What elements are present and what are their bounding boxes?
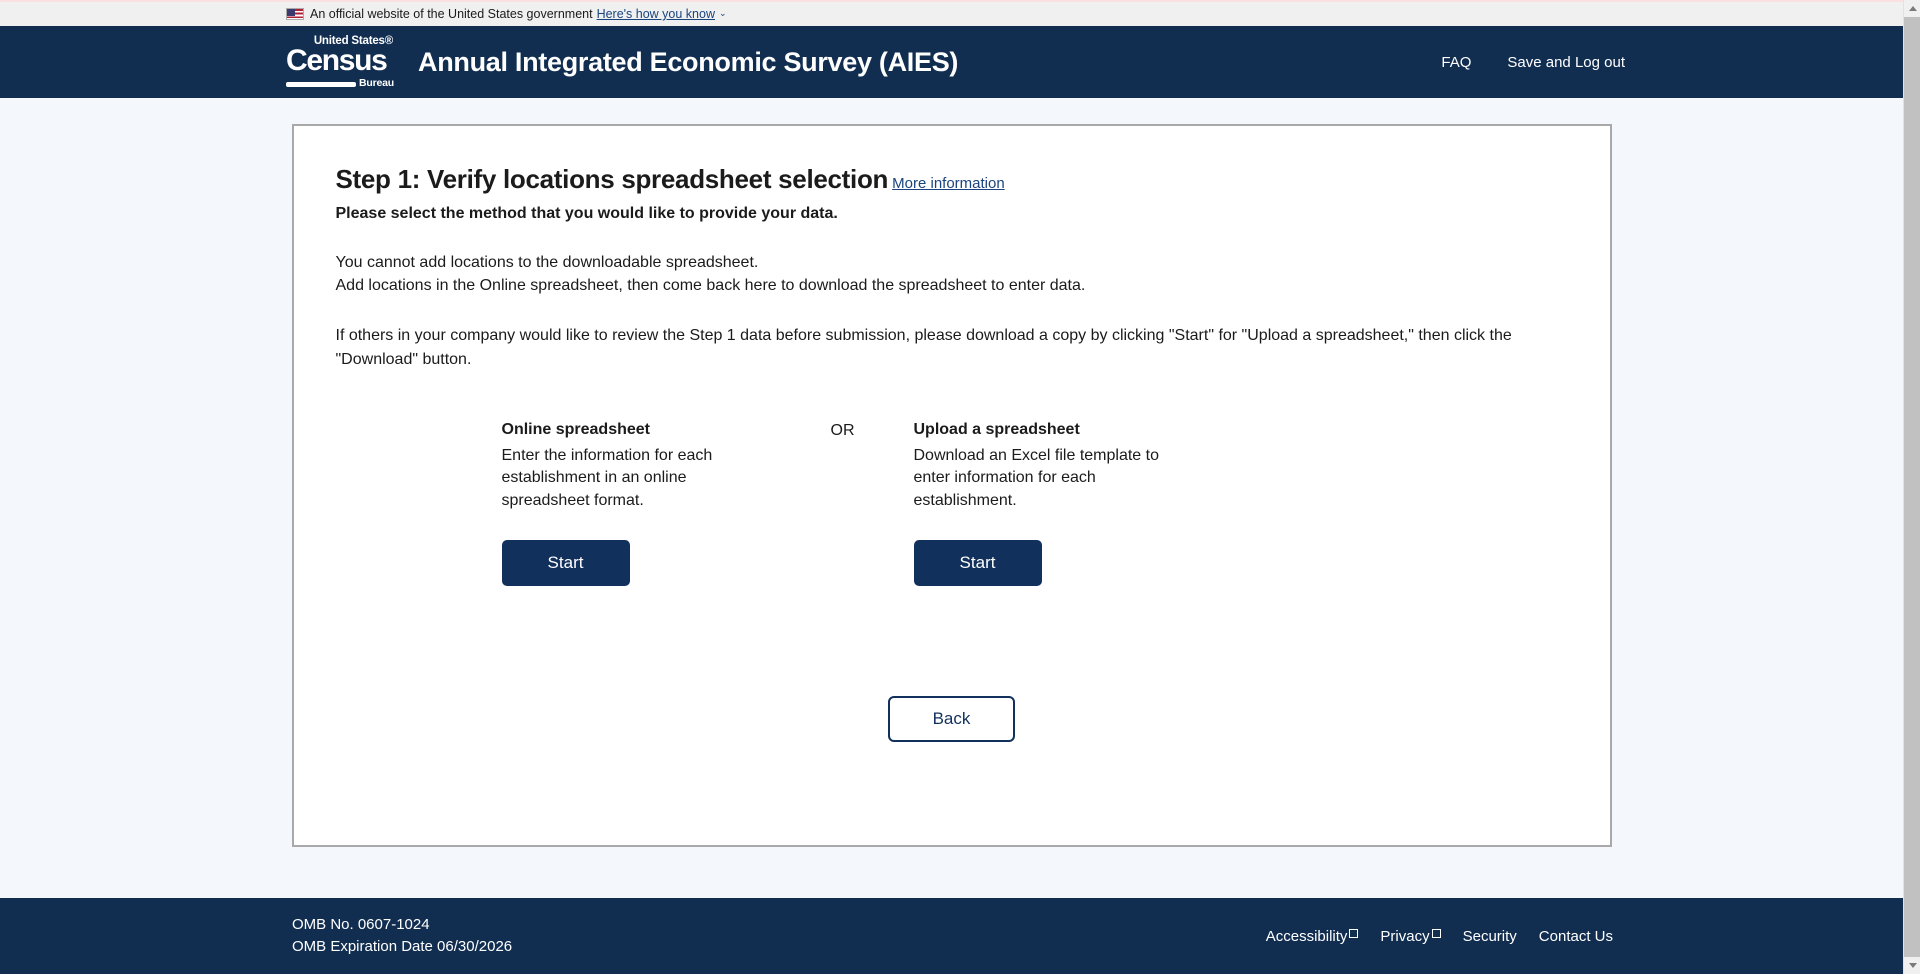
header-nav: FAQ Save and Log out — [1441, 54, 1625, 71]
option-upload-title: Upload a spreadsheet — [914, 421, 1184, 439]
step-heading: Step 1: Verify locations spreadsheet sel… — [336, 164, 889, 195]
government-banner-text: An official website of the United States… — [310, 7, 593, 21]
site-footer: OMB No. 0607-1024 OMB Expiration Date 06… — [0, 898, 1903, 974]
scrollbar-up-arrow-icon[interactable] — [1904, 0, 1920, 17]
option-online-spreadsheet: Online spreadsheet Enter the information… — [502, 421, 772, 586]
option-upload-description: Download an Excel file template to enter… — [914, 445, 1184, 513]
census-bureau-logo[interactable]: United States® Census Bureau — [286, 36, 394, 88]
option-upload-spreadsheet: Upload a spreadsheet Download an Excel f… — [914, 421, 1184, 586]
footer-link-privacy[interactable]: Privacy — [1380, 928, 1440, 945]
scrollbar-down-arrow-icon[interactable] — [1904, 957, 1920, 974]
option-online-title: Online spreadsheet — [502, 421, 772, 439]
logo-bottom-line: Bureau — [359, 78, 394, 89]
external-link-icon — [1432, 929, 1441, 938]
more-information-link[interactable]: More information — [892, 175, 1005, 192]
footer-links: Accessibility Privacy Security Contact U… — [1266, 928, 1613, 945]
omb-info: OMB No. 0607-1024 OMB Expiration Date 06… — [292, 914, 512, 959]
logo-main-line: Census — [286, 46, 387, 75]
omb-number: OMB No. 0607-1024 — [292, 914, 512, 937]
option-online-description: Enter the information for each establish… — [502, 445, 772, 513]
footer-link-accessibility-label: Accessibility — [1266, 928, 1348, 945]
footer-link-contact-us[interactable]: Contact Us — [1539, 928, 1613, 945]
paragraph-1-line-2: Add locations in the Online spreadsheet,… — [336, 274, 1568, 297]
start-online-spreadsheet-button[interactable]: Start — [502, 540, 630, 586]
page-body: Step 1: Verify locations spreadsheet sel… — [0, 98, 1903, 898]
back-button[interactable]: Back — [888, 696, 1015, 742]
logo-bottom-row: Bureau — [286, 78, 394, 89]
nav-link-save-and-log-out[interactable]: Save and Log out — [1507, 54, 1625, 71]
footer-link-security[interactable]: Security — [1463, 928, 1517, 945]
chevron-down-icon[interactable]: ⌄ — [719, 8, 727, 19]
content-card: Step 1: Verify locations spreadsheet sel… — [292, 124, 1612, 847]
nav-link-faq[interactable]: FAQ — [1441, 54, 1471, 71]
heading-row: Step 1: Verify locations spreadsheet sel… — [336, 164, 1568, 195]
page-title: Annual Integrated Economic Survey (AIES) — [418, 47, 958, 78]
site-header: United States® Census Bureau Annual Inte… — [0, 26, 1903, 98]
external-link-icon — [1349, 929, 1358, 938]
us-flag-icon — [286, 8, 304, 20]
heres-how-you-know-link[interactable]: Here's how you know — [597, 7, 715, 21]
browser-viewport: An official website of the United States… — [0, 0, 1903, 974]
options-row: Online spreadsheet Enter the information… — [336, 421, 1568, 586]
back-row: Back — [336, 696, 1568, 742]
paragraph-2: If others in your company would like to … — [336, 324, 1568, 370]
footer-link-privacy-label: Privacy — [1380, 928, 1429, 945]
instruction-subheading: Please select the method that you would … — [336, 205, 1568, 223]
paragraph-1-line-1: You cannot add locations to the download… — [336, 251, 1568, 274]
start-upload-spreadsheet-button[interactable]: Start — [914, 540, 1042, 586]
scrollbar-thumb[interactable] — [1904, 17, 1920, 957]
logo-bar-graphic — [286, 82, 356, 87]
omb-expiration-date: OMB Expiration Date 06/30/2026 — [292, 936, 512, 959]
footer-link-accessibility[interactable]: Accessibility — [1266, 928, 1359, 945]
or-separator-label: OR — [772, 421, 914, 586]
vertical-scrollbar[interactable] — [1903, 0, 1920, 974]
government-banner: An official website of the United States… — [0, 0, 1903, 26]
